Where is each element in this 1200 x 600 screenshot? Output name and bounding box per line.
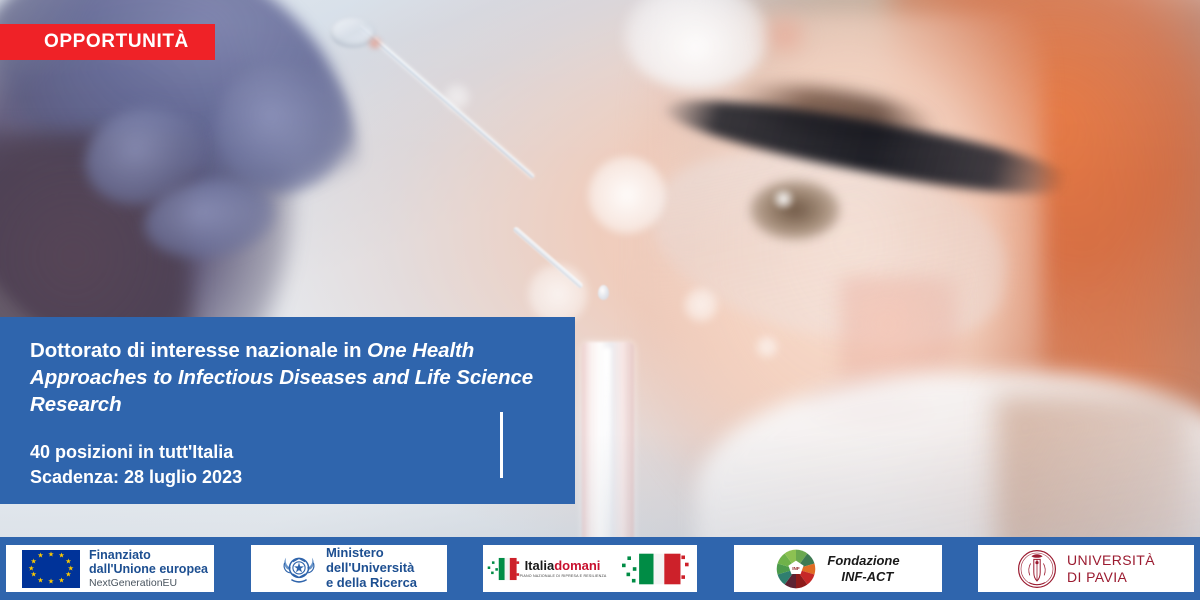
logo-italiadomani: Italiadomani PIANO NAZIONALE DI RIPRESA … — [483, 545, 697, 592]
pavia-logo-text: UNIVERSITÀ DI PAVIA — [1067, 552, 1155, 585]
eu-logo-text: Finanziato dall'Unione europea NextGener… — [89, 548, 208, 590]
opportunity-badge: OPPORTUNITÀ — [0, 24, 215, 60]
opportunity-poster: OPPORTUNITÀ Dottorato di interesse nazio… — [0, 0, 1200, 600]
logo-ministero: Ministero dell'Università e della Ricerc… — [251, 545, 447, 592]
background-photo — [0, 0, 1200, 600]
decorative-divider — [500, 412, 503, 478]
announcement-meta: 40 posizioni in tutt'Italia Scadenza: 28… — [30, 440, 545, 490]
pavia-line-2: DI PAVIA — [1067, 569, 1155, 586]
pavia-crest-icon — [1017, 549, 1057, 589]
inf-act-pinwheel-icon: INF — [775, 548, 817, 590]
logo-eu: Finanziato dall'Unione europea NextGener… — [6, 545, 214, 592]
svg-text:INF: INF — [793, 565, 801, 570]
eu-line-2: dall'Unione europea — [89, 562, 208, 576]
infact-line-2: INF-ACT — [827, 569, 899, 585]
inf-act-logo-text: Fondazione INF-ACT — [827, 553, 899, 585]
italian-republic-emblem-icon — [280, 550, 318, 588]
italiadomani-word-part1: Italia — [525, 558, 555, 573]
opportunity-badge-label: OPPORTUNITÀ — [44, 31, 189, 53]
deadline-text: Scadenza: 28 luglio 2023 — [30, 465, 545, 490]
italiadomani-large-flag-icon — [622, 551, 694, 587]
photo-vignette — [0, 0, 1200, 600]
infact-line-1: Fondazione — [827, 553, 899, 568]
eu-line-1: Finanziato — [89, 548, 208, 562]
italiadomani-subtitle: PIANO NAZIONALE DI RIPRESA E RESILIENZA — [520, 574, 607, 578]
italiadomani-word-part2: domani — [554, 558, 600, 573]
logo-inf-act: INF Fondazione INF-ACT — [734, 545, 942, 592]
eu-line-3: NextGenerationEU — [89, 578, 208, 590]
italiadomani-small-flag-icon — [486, 554, 520, 584]
eu-flag-icon — [22, 550, 80, 588]
logo-universita-pavia: UNIVERSITÀ DI PAVIA — [978, 545, 1194, 592]
mur-line-1: Ministero — [326, 546, 417, 561]
sponsor-logo-bar: Finanziato dall'Unione europea NextGener… — [0, 537, 1200, 600]
mur-line-3: e della Ricerca — [326, 576, 417, 591]
announcement-panel: Dottorato di interesse nazionale in One … — [0, 317, 575, 504]
ministero-logo-text: Ministero dell'Università e della Ricerc… — [326, 546, 417, 590]
positions-count: 40 posizioni in tutt'Italia — [30, 440, 545, 465]
pavia-line-1: UNIVERSITÀ — [1067, 552, 1155, 569]
page-title: Dottorato di interesse nazionale in One … — [30, 337, 545, 418]
mur-line-2: dell'Università — [326, 561, 417, 576]
italiadomani-wordmark: Italiadomani — [525, 559, 607, 572]
title-regular-part: Dottorato di interesse nazionale in — [30, 339, 367, 362]
